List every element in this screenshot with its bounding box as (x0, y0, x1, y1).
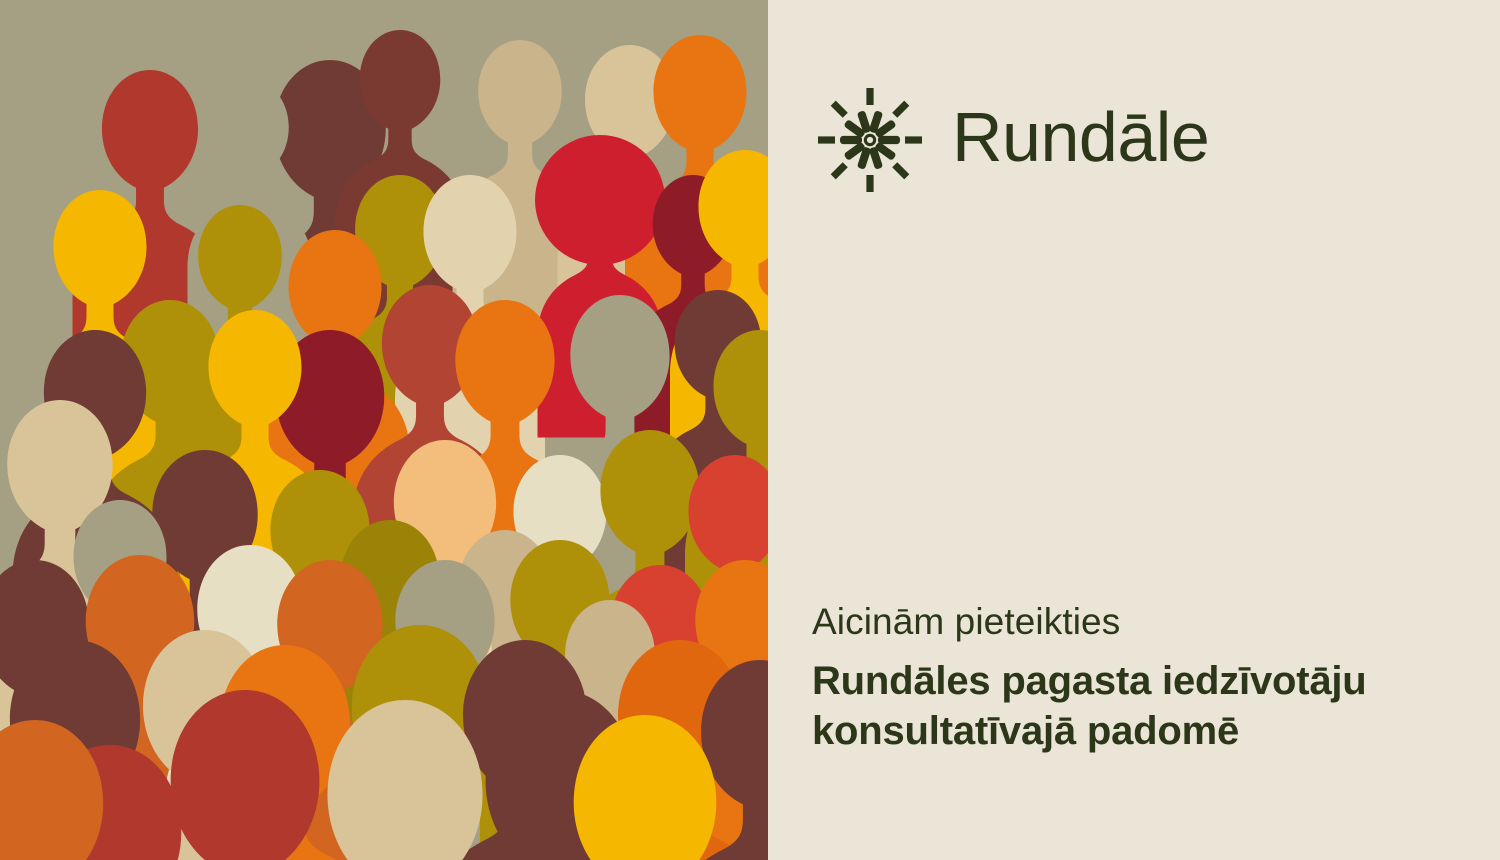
crowd-illustration-canvas (0, 0, 768, 860)
sunburst-icon (812, 82, 928, 198)
headline-line-2: konsultatīvajā padomē (812, 706, 1472, 756)
brand-wordmark: Rundāle (952, 102, 1209, 178)
announcement-text: Aicinām pieteikties Rundāles pagasta ied… (812, 600, 1472, 756)
promo-banner: Rundāle Aicinām pieteikties Rundāles pag… (0, 0, 1500, 860)
crowd-of-people-illustration (0, 0, 768, 860)
headline-text: Rundāles pagasta iedzīvotāju konsultatīv… (812, 656, 1472, 757)
kicker-text: Aicinām pieteikties (812, 600, 1472, 644)
content-panel: Rundāle Aicinām pieteikties Rundāles pag… (768, 0, 1500, 860)
headline-line-1: Rundāles pagasta iedzīvotāju (812, 656, 1472, 706)
brand-lockup[interactable]: Rundāle (812, 82, 1209, 198)
